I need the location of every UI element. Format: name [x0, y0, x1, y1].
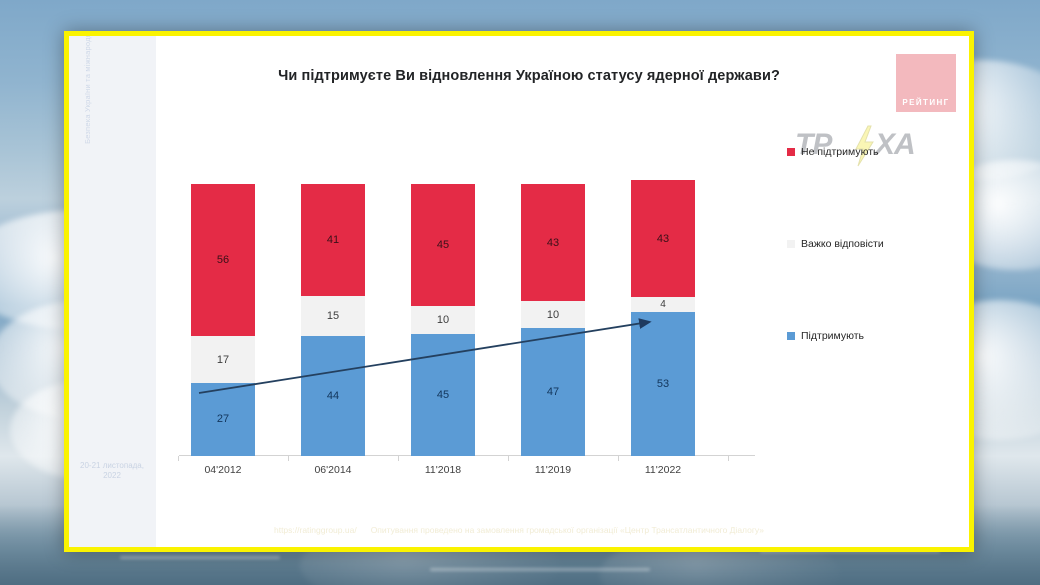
- chart-legend: Не підтримують Важко відповісти Підтриму…: [787, 136, 957, 436]
- bar-value-label: 41: [327, 234, 339, 246]
- legend-item-pidtrymuyut[interactable]: Підтримують: [787, 330, 864, 342]
- legend-swatch-icon: [787, 332, 795, 340]
- x-axis-label: 11'2019: [508, 464, 598, 476]
- legend-item-ne-pidtrymuyut[interactable]: Не підтримують: [787, 146, 879, 158]
- bar-segment-vazhko-vidpovisty[interactable]: 10: [521, 301, 585, 328]
- x-axis-tick: [178, 456, 179, 461]
- bar-value-label: 15: [327, 310, 339, 322]
- rating-logo-label: РЕЙТИНГ: [902, 98, 949, 107]
- bar-value-label: 10: [437, 314, 449, 326]
- screenshot-root: Безпека України та міжнародні домовленос…: [0, 0, 1040, 585]
- chart-plot-area: 56 17 27 41 15: [179, 126, 749, 456]
- bar-segment-pidtrymuyut[interactable]: 53: [631, 312, 695, 456]
- bar-value-label: 45: [437, 389, 449, 401]
- legend-swatch-icon: [787, 148, 795, 156]
- bar-segment-ne-pidtrymuyut[interactable]: 45: [411, 184, 475, 306]
- x-axis-tick: [618, 456, 619, 461]
- bar-value-label: 53: [657, 378, 669, 390]
- bar-value-label: 10: [547, 309, 559, 321]
- x-axis-tick: [508, 456, 509, 461]
- legend-item-vazhko-vidpovisty[interactable]: Важко відповісти: [787, 238, 884, 250]
- bar-segment-pidtrymuyut[interactable]: 47: [521, 328, 585, 456]
- bar-value-label: 43: [547, 237, 559, 249]
- slide-footer: https://ratinggroup.ua/ Опитування прове…: [69, 525, 969, 535]
- sea-streak-decoration: [430, 568, 650, 571]
- bar-value-label: 44: [327, 390, 339, 402]
- x-axis-label: 04'2012: [178, 464, 268, 476]
- x-axis-tick: [288, 456, 289, 461]
- rating-logo: РЕЙТИНГ: [896, 54, 956, 112]
- bar-segment-ne-pidtrymuyut[interactable]: 41: [301, 184, 365, 296]
- x-axis-label: 11'2022: [618, 464, 708, 476]
- bar-value-label: 4: [660, 299, 666, 310]
- bar-value-label: 27: [217, 413, 229, 425]
- bar-column[interactable]: 41 15 44: [301, 184, 365, 456]
- x-axis-label: 06'2014: [288, 464, 378, 476]
- bar-segment-ne-pidtrymuyut[interactable]: 56: [191, 184, 255, 336]
- bar-segment-pidtrymuyut[interactable]: 45: [411, 334, 475, 456]
- bar-value-label: 47: [547, 386, 559, 398]
- bar-segment-vazhko-vidpovisty[interactable]: 17: [191, 336, 255, 382]
- legend-label: Підтримують: [801, 330, 864, 342]
- bar-segment-vazhko-vidpovisty[interactable]: 10: [411, 306, 475, 333]
- x-axis-tick: [398, 456, 399, 461]
- slide-frame: Безпека України та міжнародні домовленос…: [64, 31, 974, 552]
- bar-column[interactable]: 43 4 53: [631, 180, 695, 456]
- bar-column[interactable]: 56 17 27: [191, 184, 255, 456]
- bar-segment-pidtrymuyut[interactable]: 44: [301, 336, 365, 456]
- bar-value-label: 17: [217, 354, 229, 366]
- legend-swatch-icon: [787, 240, 795, 248]
- slide: Безпека України та міжнародні домовленос…: [69, 36, 969, 547]
- bar-column[interactable]: 43 10 47: [521, 184, 585, 456]
- x-axis-tick: [728, 456, 729, 461]
- footer-source-link[interactable]: https://ratinggroup.ua/: [274, 525, 357, 535]
- slide-vertical-caption: Безпека України та міжнародні домовленос…: [83, 36, 92, 154]
- bar-value-label: 43: [657, 233, 669, 245]
- bar-column[interactable]: 45 10 45: [411, 184, 475, 456]
- bar-value-label: 45: [437, 239, 449, 251]
- bar-segment-ne-pidtrymuyut[interactable]: 43: [521, 184, 585, 301]
- legend-label: Важко відповісти: [801, 238, 884, 250]
- x-axis-label: 11'2018: [398, 464, 488, 476]
- bar-segment-vazhko-vidpovisty[interactable]: 15: [301, 296, 365, 337]
- sea-streak-decoration: [120, 556, 280, 559]
- chart-title: Чи підтримуєте Ви відновлення Україною с…: [179, 68, 879, 84]
- bar-segment-vazhko-vidpovisty[interactable]: 4: [631, 297, 695, 312]
- footer-note: Опитування проведено на замовлення грома…: [371, 525, 764, 535]
- bar-segment-ne-pidtrymuyut[interactable]: 43: [631, 180, 695, 297]
- bar-segment-pidtrymuyut[interactable]: 27: [191, 383, 255, 456]
- bar-value-label: 56: [217, 254, 229, 266]
- slide-date-caption: 20-21 листопада, 2022: [79, 461, 145, 481]
- legend-label: Не підтримують: [801, 146, 879, 158]
